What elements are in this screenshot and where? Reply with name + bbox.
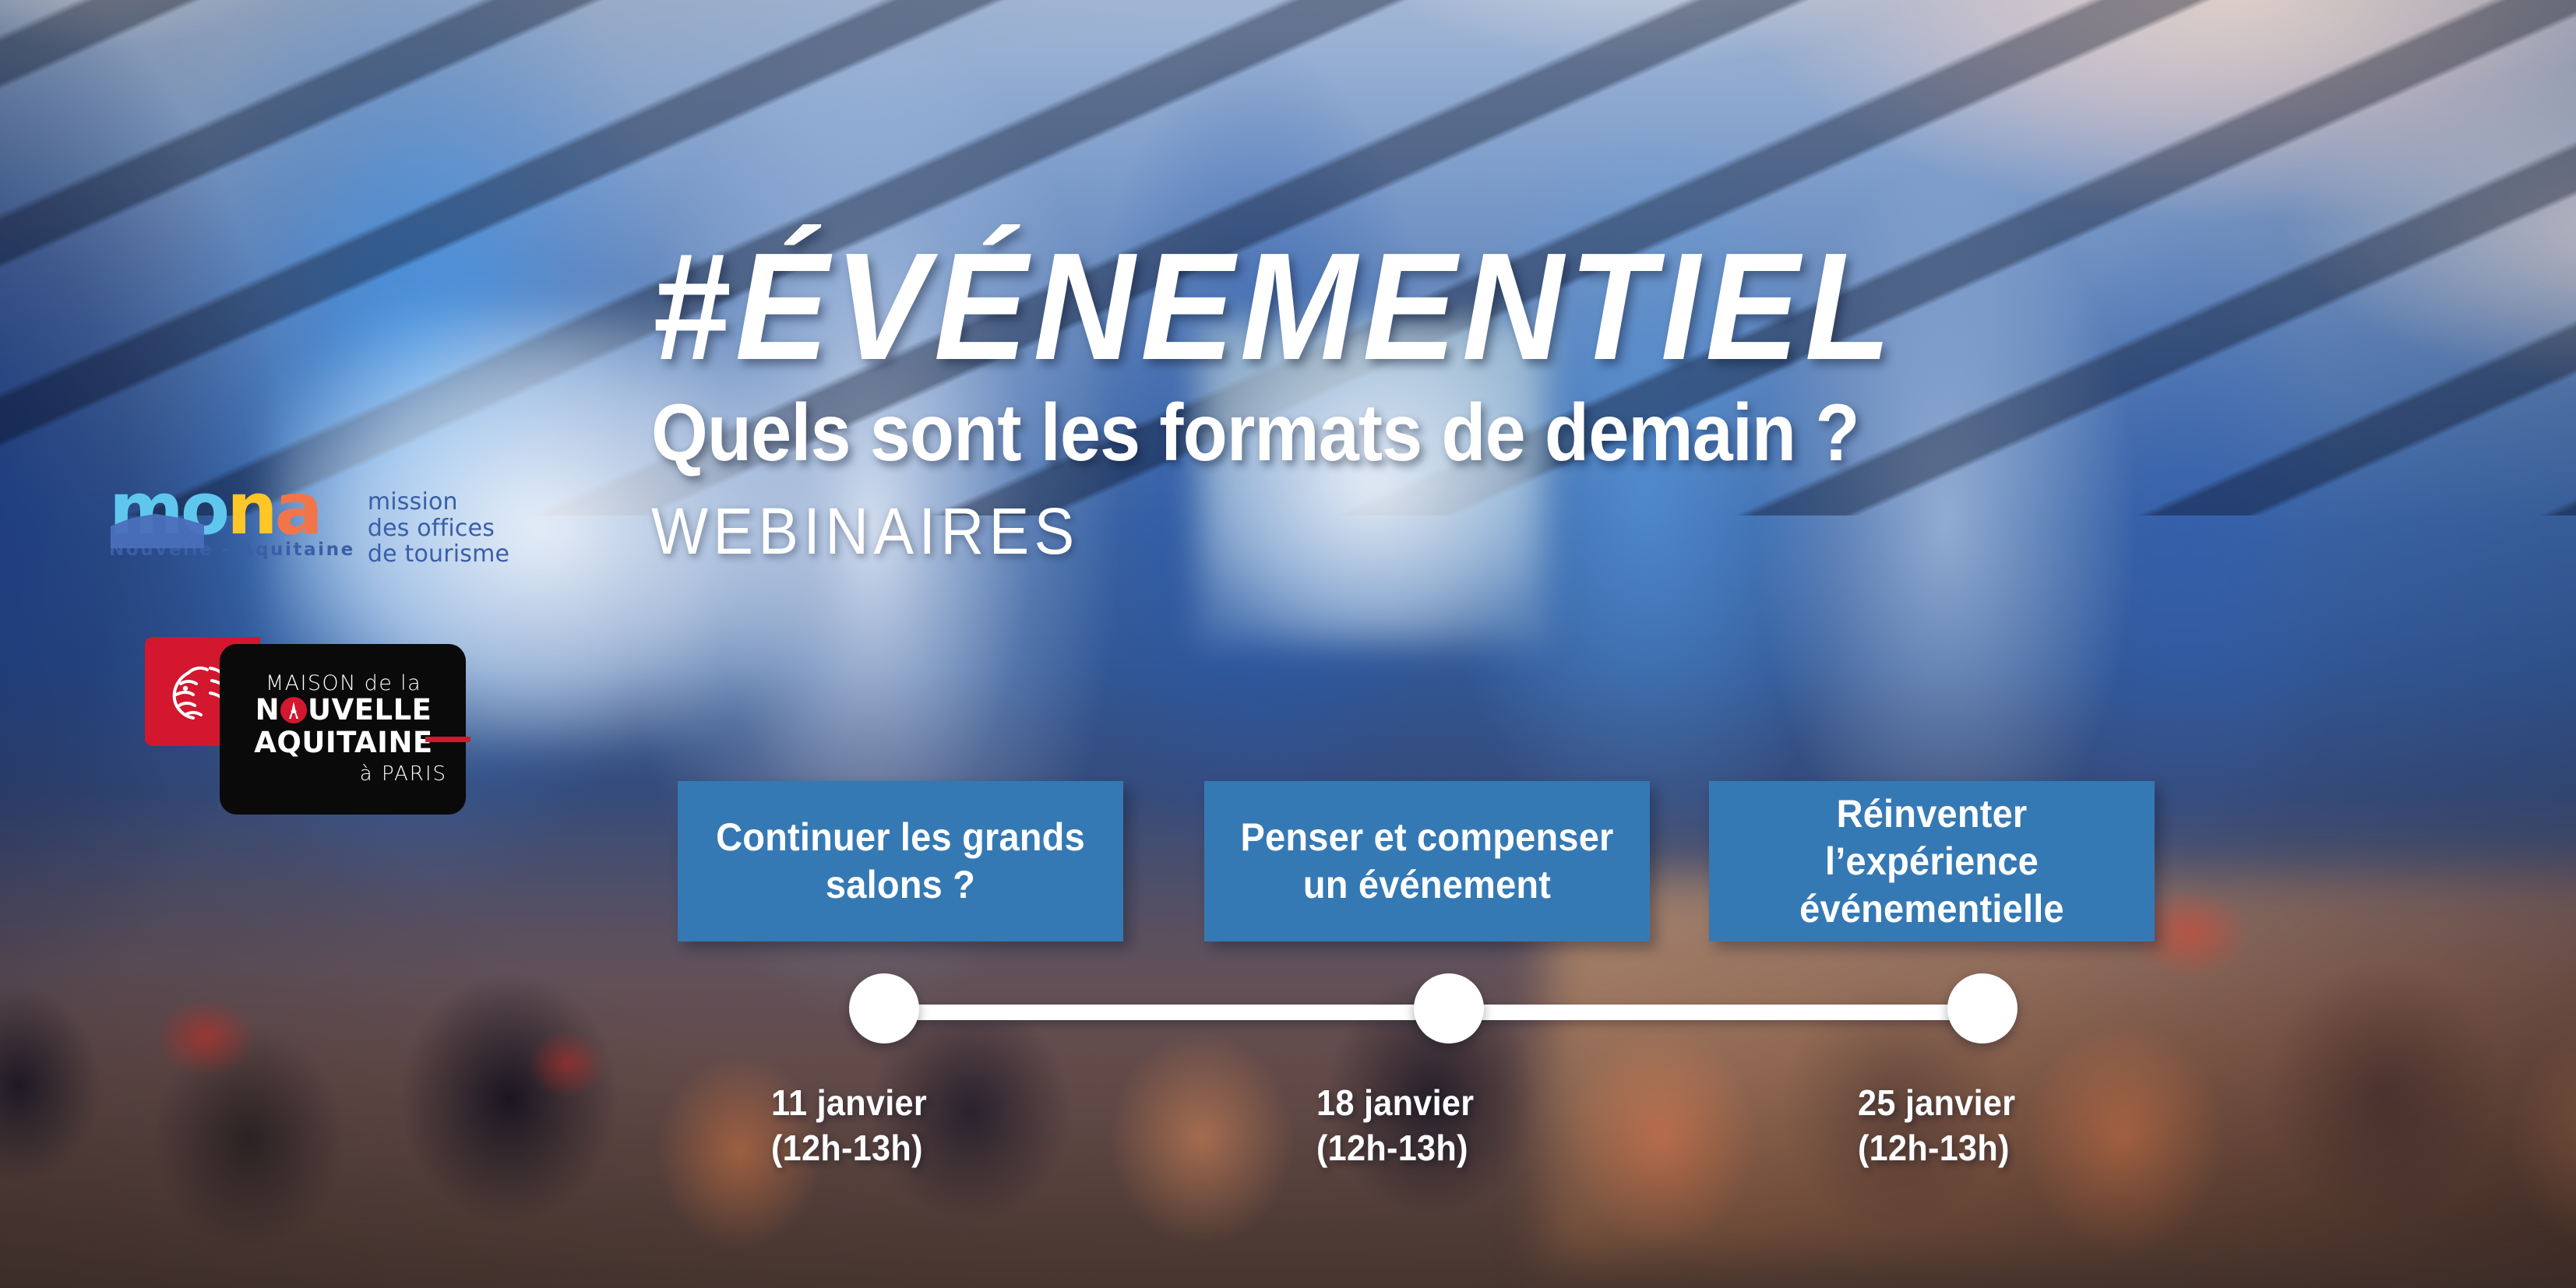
timeline-date-3-day: 25 janvier <box>1858 1081 2015 1126</box>
timeline-date-1-time: (12h-13h) <box>771 1126 927 1171</box>
mona-tagline-line-2: des offices <box>368 516 509 542</box>
timeline <box>0 973 2576 1067</box>
timeline-dot-2 <box>1414 973 1484 1043</box>
eiffel-tower-glyph <box>286 701 301 720</box>
headline-block: #ÉVÉNEMENTIEL Quels sont les formats de … <box>651 234 2427 564</box>
topic-card-1[interactable]: Continuer les grands salons ? <box>678 781 1123 941</box>
eiffel-tower-icon <box>280 697 307 723</box>
mona-wordmark: m o n a Nouvelle - Aquitaine <box>109 477 355 560</box>
mona-tagline-line-3: de tourisme <box>368 541 509 568</box>
maison-line-2-prefix: N <box>255 695 280 725</box>
page-subtitle: Quels sont les formats de demain ? <box>651 391 2250 475</box>
mona-letter-n: n <box>227 477 275 543</box>
topic-card-3-label: Réinventer l’expérience événementielle <box>1722 790 2141 933</box>
mona-letter-a: a <box>275 477 320 543</box>
webinar-promo-banner: m o n a Nouvelle - Aquitaine mission des… <box>0 0 2576 1288</box>
mona-subtitle: Nouvelle - Aquitaine <box>109 540 355 560</box>
timeline-date-3: 25 janvier (12h-13h) <box>1858 1081 2015 1170</box>
topic-card-1-label: Continuer les grands salons ? <box>691 814 1110 909</box>
mona-tagline: mission des offices de tourisme <box>368 489 509 568</box>
maison-line-2: N UVELLE <box>234 695 453 725</box>
timeline-date-2: 18 janvier (12h-13h) <box>1316 1081 1474 1170</box>
timeline-date-list: 11 janvier (12h-13h) 18 janvier (12h-13h… <box>0 1081 2576 1205</box>
mona-tagline-line-1: mission <box>368 489 509 516</box>
mona-letter-o: o <box>181 477 227 543</box>
maison-line-3: AQUITAINE <box>234 728 453 758</box>
maison-line-1-dela: de la <box>357 671 421 695</box>
maison-line-2-suffix: UVELLE <box>308 695 432 725</box>
mona-letters: m o n a <box>109 477 355 543</box>
timeline-dot-3 <box>1947 973 2017 1043</box>
topic-card-3[interactable]: Réinventer l’expérience événementielle <box>1709 781 2155 941</box>
maison-line-1-maison: MAISON <box>266 671 357 695</box>
page-title: #ÉVÉNEMENTIEL <box>651 234 2285 380</box>
topic-card-list: Continuer les grands salons ? Penser et … <box>0 781 2576 941</box>
page-kicker: WEBINAIRES <box>651 498 2285 564</box>
timeline-date-1: 11 janvier (12h-13h) <box>771 1081 927 1170</box>
topic-card-2[interactable]: Penser et compenser un événement <box>1204 781 1650 941</box>
timeline-date-1-day: 11 janvier <box>771 1081 927 1126</box>
timeline-dot-1 <box>849 973 919 1043</box>
maison-red-rule <box>425 737 470 742</box>
timeline-date-2-day: 18 janvier <box>1316 1081 1474 1126</box>
maison-line-1: MAISON de la <box>234 671 453 695</box>
timeline-date-3-time: (12h-13h) <box>1858 1126 2015 1171</box>
timeline-date-2-time: (12h-13h) <box>1316 1126 1474 1171</box>
mona-logo: m o n a Nouvelle - Aquitaine mission des… <box>109 477 509 568</box>
topic-card-2-label: Penser et compenser un événement <box>1218 814 1637 909</box>
mona-letter-m: m <box>109 477 181 543</box>
